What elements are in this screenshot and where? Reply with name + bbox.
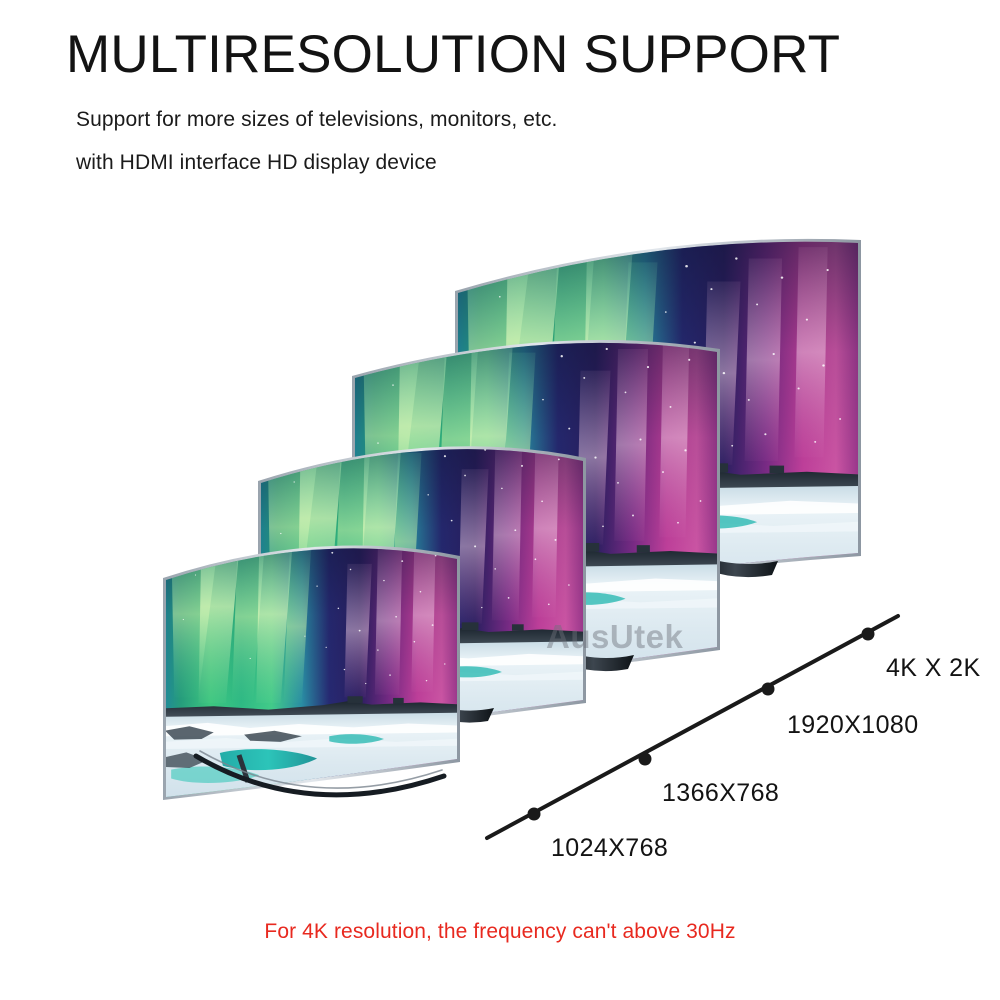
page-title: MULTIRESOLUTION SUPPORT	[66, 27, 840, 83]
display-1024x768	[159, 525, 463, 803]
resolution-label-1920x1080: 1920X1080	[787, 711, 919, 740]
subtitle-line-1: Support for more sizes of televisions, m…	[76, 108, 558, 132]
watermark: AusUtek	[546, 618, 683, 656]
scale-dots	[528, 628, 875, 821]
display-1366x768	[254, 424, 589, 748]
resolution-label-1024x768: 1024X768	[551, 834, 668, 863]
scale-dot-1024x768	[528, 808, 541, 821]
scale-dot-4kx2k	[862, 628, 875, 641]
scale-dot-1366x768	[639, 753, 652, 766]
resolution-label-1366x768: 1366X768	[662, 779, 779, 808]
infographic-page: MULTIRESOLUTION SUPPORT Support for more…	[0, 0, 1000, 1000]
display-4k-x-2k	[450, 228, 865, 610]
subtitle-line-2: with HDMI interface HD display device	[76, 151, 437, 175]
resolution-label-4kx2k: 4K X 2K	[886, 654, 981, 683]
scale-dot-1920x1080	[762, 683, 775, 696]
display-stack-illustration: 1024X7681366X7681920X10804K X 2K	[0, 0, 1000, 1000]
footer-note: For 4K resolution, the frequency can't a…	[0, 920, 1000, 944]
